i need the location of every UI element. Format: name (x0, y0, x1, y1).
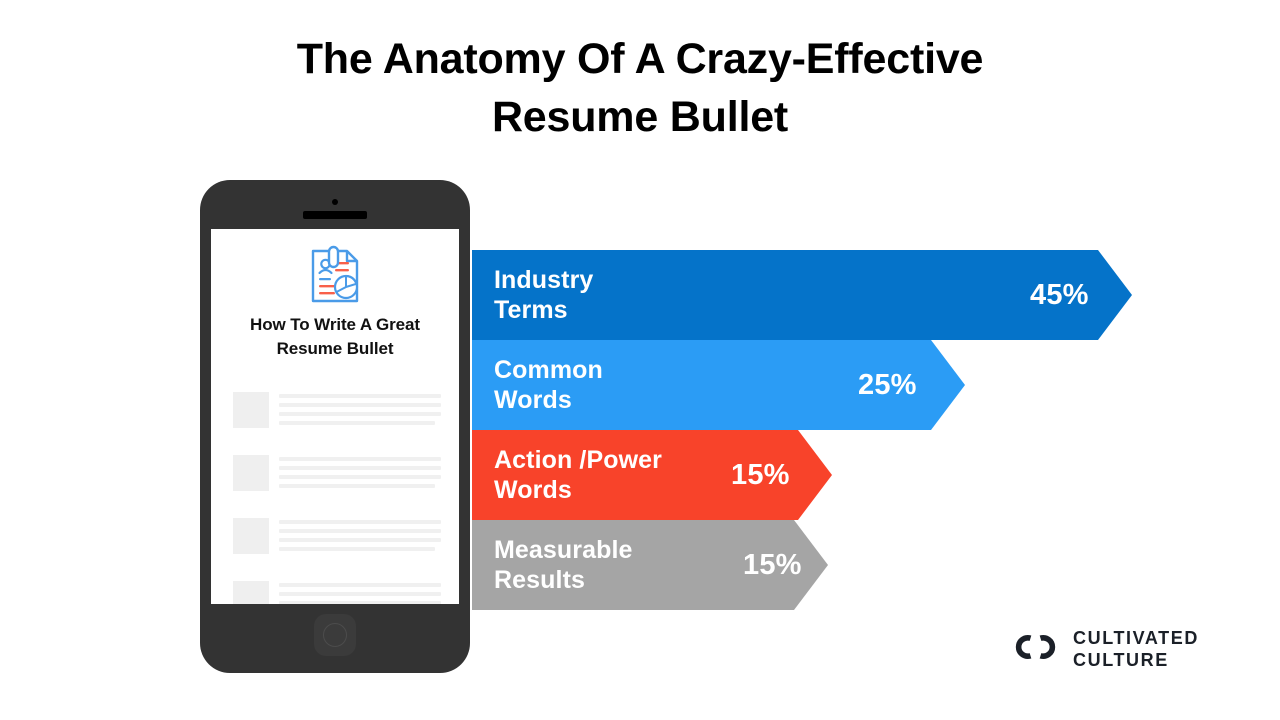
list-item-thumbnail (233, 392, 269, 428)
page-title-line-2: Resume Bullet (0, 88, 1280, 146)
bar-label: Common Words (494, 355, 603, 416)
phone-screen-title: How To Write A Great Resume Bullet (219, 313, 451, 361)
phone-home-button-ring (323, 623, 347, 647)
placeholder-line (279, 421, 435, 425)
placeholder-line (279, 601, 441, 604)
phone-mockup: How To Write A Great Resume Bullet (200, 180, 470, 673)
phone-home-button[interactable] (314, 614, 356, 656)
phone-camera-icon (332, 199, 338, 205)
phone-screen: How To Write A Great Resume Bullet (211, 229, 459, 604)
placeholder-line (279, 475, 441, 479)
list-item[interactable] (233, 581, 441, 604)
phone-placeholder-list (233, 392, 441, 604)
placeholder-line (279, 547, 435, 551)
infographic-canvas: The Anatomy Of A Crazy-Effective Resume … (0, 0, 1280, 720)
placeholder-line (279, 538, 441, 542)
phone-screen-title-line-2: Resume Bullet (277, 339, 394, 358)
bar-label: Measurable Results (494, 535, 633, 596)
bar-value: 15% (743, 549, 802, 582)
placeholder-line (279, 466, 441, 470)
placeholder-line (279, 412, 441, 416)
brand-logo-text: CULTIVATED CULTURE (1073, 628, 1199, 672)
placeholder-line (279, 484, 435, 488)
list-item[interactable] (233, 518, 441, 556)
list-item-text-lines (279, 455, 441, 493)
brand-logo: CULTIVATED CULTURE (1013, 628, 1199, 672)
placeholder-line (279, 520, 441, 524)
bar-row: Action /Power Words15% (472, 430, 832, 520)
list-item-thumbnail (233, 581, 269, 604)
list-item-thumbnail (233, 518, 269, 554)
page-title: The Anatomy Of A Crazy-Effective Resume … (0, 30, 1280, 147)
phone-screen-title-line-1: How To Write A Great (250, 315, 420, 334)
bar-row: Industry Terms45% (472, 250, 1132, 340)
placeholder-line (279, 529, 441, 533)
bar-value: 15% (731, 459, 790, 492)
placeholder-line (279, 457, 441, 461)
bar-chart: Industry Terms45%Common Words25%Action /… (472, 250, 1172, 610)
chain-links-icon (1013, 633, 1060, 666)
phone-speaker-icon (303, 211, 367, 219)
bar-value: 45% (1030, 279, 1089, 312)
placeholder-line (279, 583, 441, 587)
list-item[interactable] (233, 392, 441, 430)
placeholder-line (279, 403, 441, 407)
list-item-text-lines (279, 392, 441, 430)
bar-label: Industry Terms (494, 265, 593, 326)
bar-value: 25% (858, 369, 917, 402)
list-item-text-lines (279, 581, 441, 604)
placeholder-line (279, 592, 441, 596)
bar-row: Measurable Results15% (472, 520, 828, 610)
list-item[interactable] (233, 455, 441, 493)
page-title-line-1: The Anatomy Of A Crazy-Effective (0, 30, 1280, 88)
list-item-text-lines (279, 518, 441, 556)
resume-document-icon (301, 245, 369, 312)
placeholder-line (279, 394, 441, 398)
list-item-thumbnail (233, 455, 269, 491)
bar-row: Common Words25% (472, 340, 965, 430)
bar-label: Action /Power Words (494, 445, 662, 506)
